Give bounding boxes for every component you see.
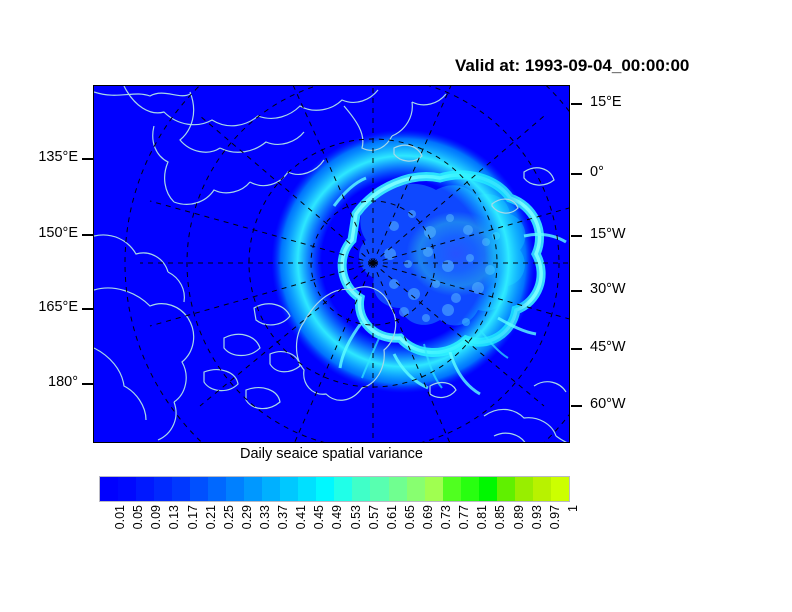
colorbar-tick-label: 0.21 xyxy=(204,505,218,529)
colorbar-gradient xyxy=(99,476,570,502)
plot-caption: Daily seaice spatial variance xyxy=(93,446,570,462)
colorbar-segment xyxy=(190,477,208,501)
right-axis-label-1: 15°E xyxy=(590,94,622,110)
right-axis-label-2: 0° xyxy=(590,164,604,180)
colorbar-segment xyxy=(298,477,316,501)
colorbar-segment xyxy=(407,477,425,501)
colorbar-segment xyxy=(551,477,569,501)
colorbar-tick-label: 0.81 xyxy=(475,505,489,529)
colorbar-segment xyxy=(425,477,443,501)
colorbar-segment xyxy=(280,477,298,501)
colorbar-tick-label: 0.25 xyxy=(222,505,236,529)
right-tick-4 xyxy=(571,290,582,292)
colorbar-tick-label: 0.09 xyxy=(149,505,163,529)
colorbar-segment xyxy=(352,477,370,501)
colorbar-tick-label: 0.93 xyxy=(530,505,544,529)
colorbar-segment xyxy=(370,477,388,501)
right-axis-label-6: 60°W xyxy=(590,396,626,412)
colorbar-tick-label: 0.97 xyxy=(548,505,562,529)
map-plot-area xyxy=(93,85,570,443)
colorbar-segment xyxy=(136,477,154,501)
colorbar-tick-label: 0.61 xyxy=(385,505,399,529)
colorbar-segment xyxy=(226,477,244,501)
colorbar-segment xyxy=(262,477,280,501)
left-tick-3 xyxy=(82,308,93,310)
colorbar-segment xyxy=(244,477,262,501)
colorbar-tick-label: 0.77 xyxy=(457,505,471,529)
colorbar-segment xyxy=(515,477,533,501)
colorbar-tick-label: 0.13 xyxy=(167,505,181,529)
colorbar-segment xyxy=(443,477,461,501)
right-tick-5 xyxy=(571,348,582,350)
right-tick-6 xyxy=(571,405,582,407)
colorbar-segment xyxy=(100,477,118,501)
colorbar-segment xyxy=(389,477,407,501)
colorbar-tick-label: 0.45 xyxy=(312,505,326,529)
colorbar-tick-label: 0.49 xyxy=(330,505,344,529)
right-tick-2 xyxy=(571,173,582,175)
colorbar-tick-labels: 0.010.050.090.130.170.210.250.290.330.37… xyxy=(99,505,570,563)
colorbar-tick-label: 0.89 xyxy=(512,505,526,529)
right-tick-1 xyxy=(571,103,582,105)
left-axis-label-4: 180° xyxy=(0,374,78,390)
right-axis-label-5: 45°W xyxy=(590,339,626,355)
right-axis-label-4: 30°W xyxy=(590,281,626,297)
figure-canvas: Valid at: 1993-09-04_00:00:00 xyxy=(0,0,792,612)
colorbar-segment xyxy=(172,477,190,501)
colorbar xyxy=(99,476,570,502)
right-tick-3 xyxy=(571,235,582,237)
colorbar-segment xyxy=(154,477,172,501)
colorbar-segment xyxy=(334,477,352,501)
map-svg xyxy=(94,86,570,443)
left-tick-4 xyxy=(82,383,93,385)
left-tick-2 xyxy=(82,234,93,236)
colorbar-tick-label: 0.01 xyxy=(113,505,127,529)
colorbar-tick-label: 0.41 xyxy=(294,505,308,529)
left-axis-label-3: 165°E xyxy=(0,299,78,315)
colorbar-tick-label: 0.37 xyxy=(276,505,290,529)
colorbar-tick-label: 0.29 xyxy=(240,505,254,529)
colorbar-segment xyxy=(461,477,479,501)
colorbar-tick-label: 0.33 xyxy=(258,505,272,529)
colorbar-tick-label: 0.85 xyxy=(493,505,507,529)
colorbar-tick-label: 1 xyxy=(566,505,580,512)
colorbar-tick-label: 0.73 xyxy=(439,505,453,529)
left-axis-label-2: 150°E xyxy=(0,225,78,241)
colorbar-segment xyxy=(533,477,551,501)
colorbar-tick-label: 0.57 xyxy=(367,505,381,529)
right-axis-label-3: 15°W xyxy=(590,226,626,242)
colorbar-tick-label: 0.53 xyxy=(349,505,363,529)
colorbar-segment xyxy=(497,477,515,501)
colorbar-segment xyxy=(479,477,497,501)
left-axis-label-1: 135°E xyxy=(0,149,78,165)
colorbar-segment xyxy=(208,477,226,501)
page-title: Valid at: 1993-09-04_00:00:00 xyxy=(455,56,775,76)
colorbar-segment xyxy=(316,477,334,501)
colorbar-tick-label: 0.69 xyxy=(421,505,435,529)
colorbar-segment xyxy=(118,477,136,501)
left-tick-1 xyxy=(82,158,93,160)
colorbar-tick-label: 0.65 xyxy=(403,505,417,529)
colorbar-tick-label: 0.17 xyxy=(186,505,200,529)
colorbar-tick-label: 0.05 xyxy=(131,505,145,529)
